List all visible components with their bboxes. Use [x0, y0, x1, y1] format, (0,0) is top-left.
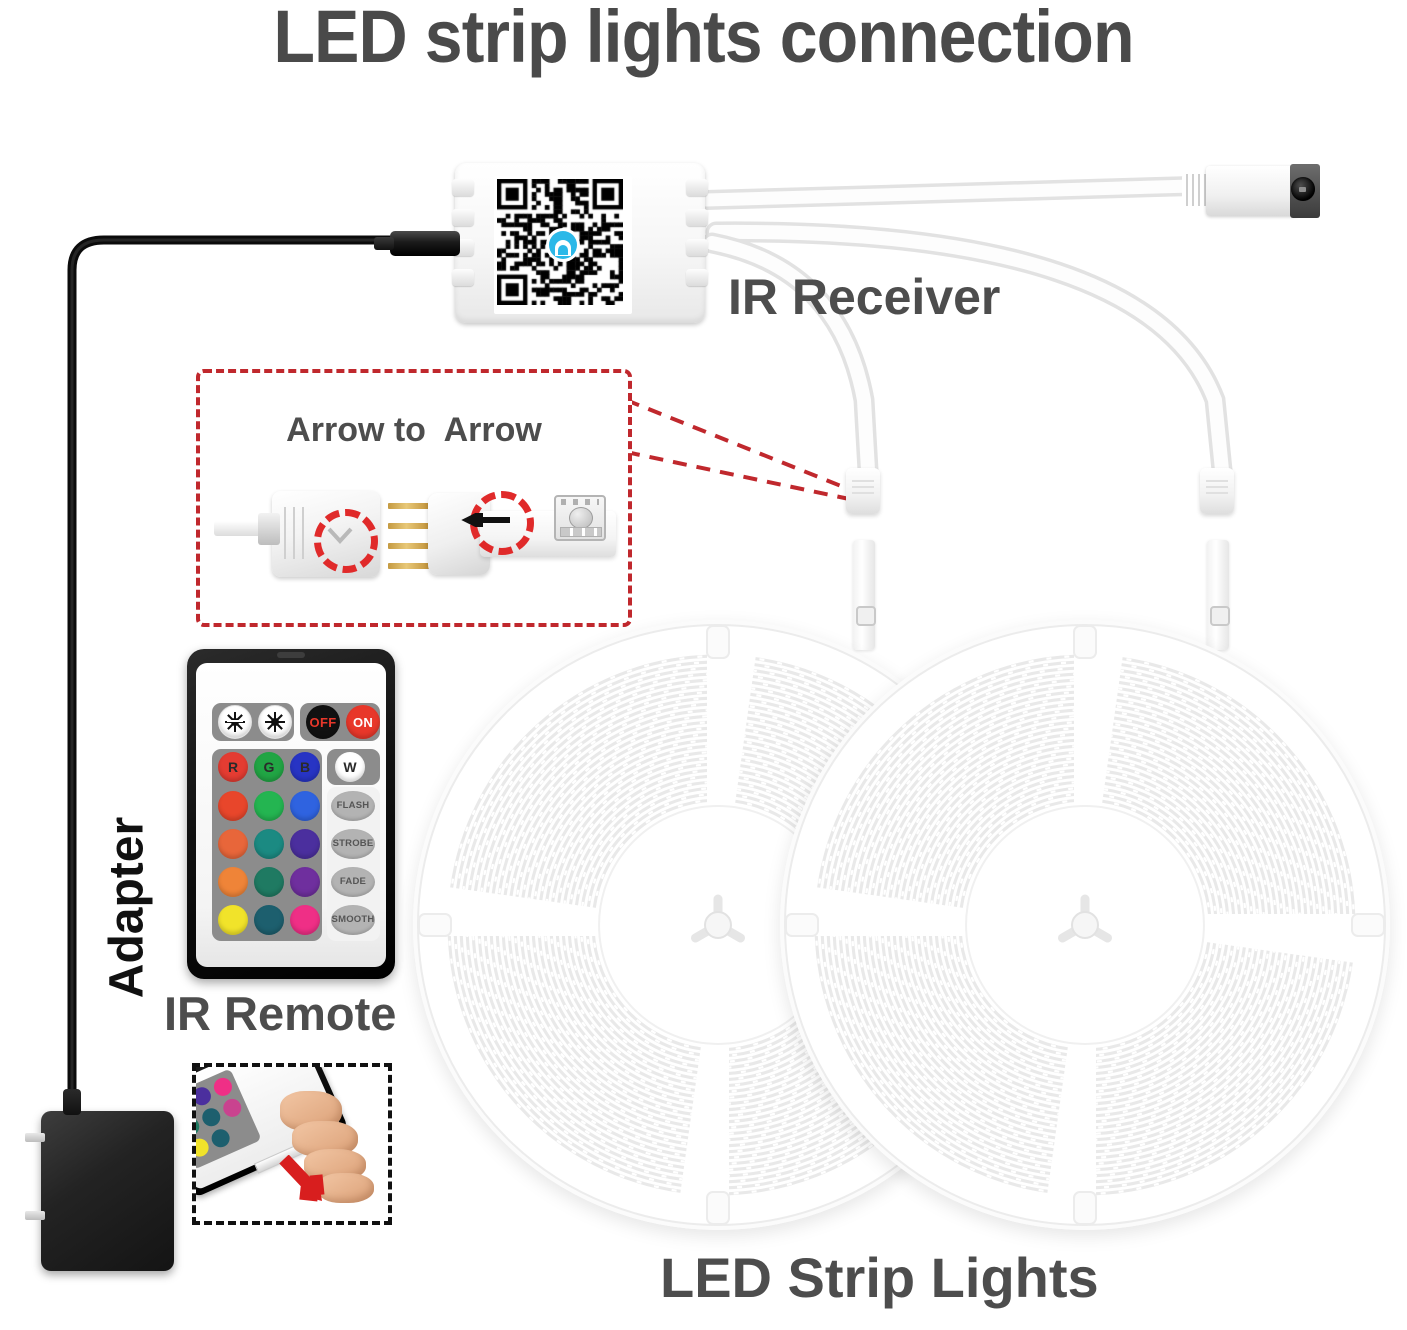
remote-color-key[interactable]	[290, 829, 320, 859]
led-chip-icon	[554, 495, 606, 541]
diagram-canvas: LED strip lights connection	[0, 0, 1407, 1330]
ir-emitter-icon	[277, 652, 305, 658]
strip-plug-right	[1200, 468, 1234, 514]
remote-color-key[interactable]	[218, 867, 248, 897]
pull-direction-arrow-icon	[278, 1155, 352, 1217]
remote-key-flash[interactable]: FLASH	[331, 791, 375, 821]
remote-faceplate: OFFONRGBWFLASHSTROBEFADESMOOTH	[196, 663, 386, 967]
mini-keypad	[192, 1068, 262, 1169]
arrow-to-arrow-callout: Arrow to Arrow	[196, 369, 632, 627]
remote-key-label: G	[264, 760, 275, 774]
battery-tab-inset	[192, 1063, 392, 1225]
remote-key-brightness-up[interactable]	[218, 705, 252, 739]
direction-arrow-icon	[452, 513, 510, 527]
remote-color-key[interactable]	[218, 791, 248, 821]
led-strip-reel	[780, 620, 1390, 1230]
remote-key-label: R	[228, 760, 238, 774]
remote-color-key[interactable]	[290, 867, 320, 897]
remote-key-green[interactable]: G	[254, 752, 284, 782]
callout-title: Arrow to Arrow	[200, 411, 628, 450]
remote-key-label: FLASH	[337, 801, 370, 811]
remote-key-label: STROBE	[333, 839, 374, 849]
remote-key-strobe[interactable]: STROBE	[331, 829, 375, 859]
remote-color-key[interactable]	[218, 905, 248, 935]
remote-key-red[interactable]: R	[218, 752, 248, 782]
remote-key-label: SMOOTH	[332, 915, 375, 925]
adapter-label: Adapter	[100, 778, 155, 1038]
remote-color-key[interactable]	[218, 829, 248, 859]
strip-connector-female	[272, 491, 380, 577]
power-adapter	[41, 1111, 174, 1271]
remote-color-key[interactable]	[254, 829, 284, 859]
remote-key-brightness-down[interactable]	[258, 705, 292, 739]
remote-key-label: FADE	[340, 877, 366, 887]
remote-key-blue[interactable]: B	[290, 752, 320, 782]
ir-remote-label: IR Remote	[164, 986, 396, 1041]
remote-key-on[interactable]: ON	[346, 705, 380, 739]
remote-key-fade[interactable]: FADE	[331, 867, 375, 897]
strip-plug-left	[846, 468, 880, 514]
led-strip-lights-label: LED Strip Lights	[660, 1245, 1099, 1310]
remote-color-key[interactable]	[254, 867, 284, 897]
remote-color-key[interactable]	[254, 905, 284, 935]
remote-key-white[interactable]: W	[335, 752, 365, 782]
remote-key-label: W	[343, 760, 356, 774]
remote-key-label: OFF	[310, 716, 337, 729]
remote-color-key[interactable]	[254, 791, 284, 821]
down-arrow-icon	[327, 527, 353, 545]
remote-key-label: ON	[353, 716, 373, 729]
ir-remote[interactable]: OFFONRGBWFLASHSTROBEFADESMOOTH	[187, 649, 395, 979]
remote-color-key[interactable]	[290, 905, 320, 935]
remote-key-label: B	[300, 760, 310, 774]
remote-key-off[interactable]: OFF	[306, 705, 340, 739]
remote-color-key[interactable]	[290, 791, 320, 821]
remote-key-smooth[interactable]: SMOOTH	[331, 905, 375, 935]
